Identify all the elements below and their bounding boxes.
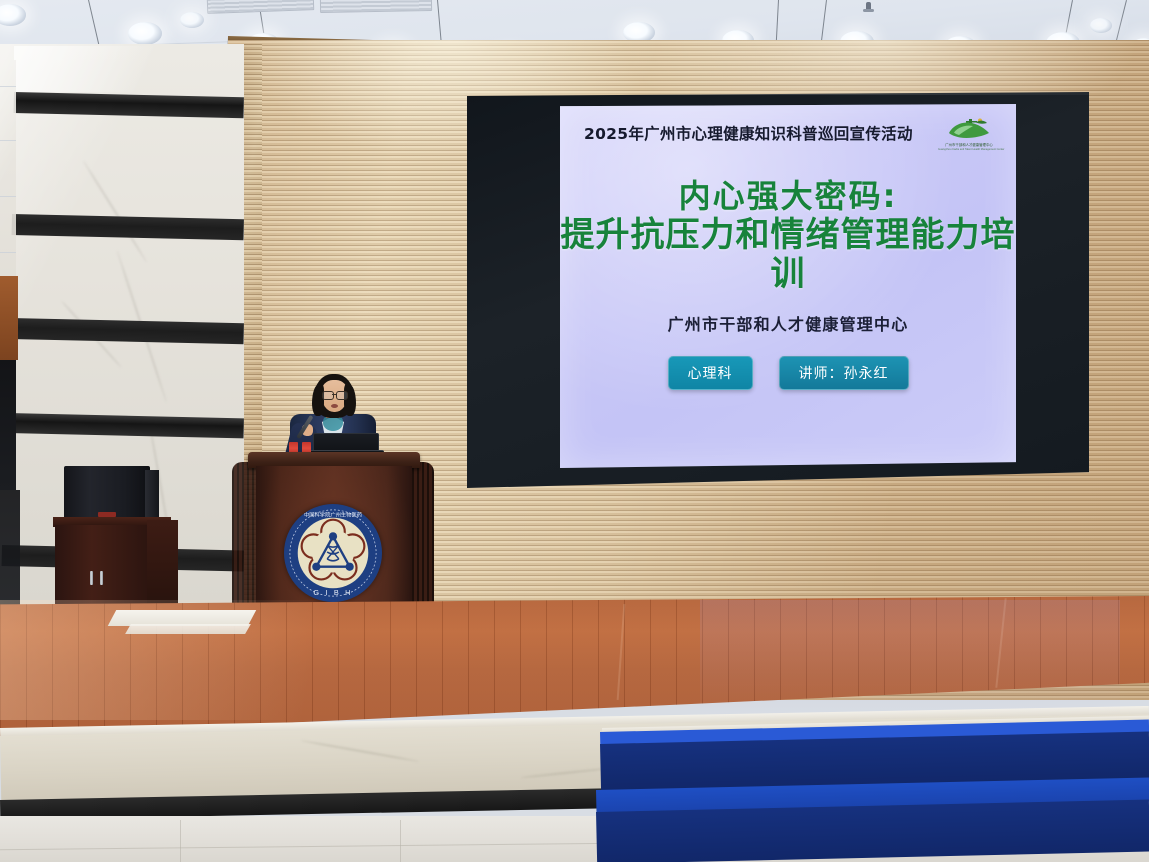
presenter-glasses-right [336, 391, 348, 400]
presenter-glasses-left [322, 391, 334, 400]
ceiling-downlight [1090, 18, 1112, 33]
wood-door-edge [0, 276, 18, 360]
presenter-hair-side [312, 384, 324, 416]
department-pill: 心理科 [668, 356, 753, 390]
presentation-slide: 2025年广州市心理健康知识科普巡回宣传活动 广州市干部和人才健康管理中心 Gu… [560, 104, 1016, 468]
far-left-wall-seam [0, 86, 16, 87]
logo-caption-en: Guangzhou Cadre and Talent Health Manage… [938, 148, 1000, 151]
slide-header-text: 2025年广州市心理健康知识科普巡回宣传活动 [584, 122, 913, 144]
loudspeaker-side [145, 470, 159, 518]
blue-carpeted-stairs [596, 716, 1149, 862]
svg-text:中国科学院广州生物医药: 中国科学院广州生物医药 [304, 511, 362, 519]
side-doorway [0, 360, 16, 490]
logo-mark-icon [946, 116, 992, 142]
floor-loudspeaker [64, 466, 150, 520]
ceiling-downlight [128, 22, 162, 45]
lower-floor-tile-seam [180, 820, 181, 862]
presenter-mouth [331, 404, 338, 408]
logo-caption-cn: 广州市干部和人才健康管理中心 [938, 143, 1000, 147]
emblem-artwork-icon: G I B H 中国科学院广州生物医药 [284, 504, 382, 602]
sprinkler-head [866, 2, 871, 11]
slide-title-line2: 提升抗压力和情绪管理能力培训 [560, 216, 1016, 294]
presenter-hair-side [344, 384, 356, 416]
cabinet-handle [100, 571, 103, 585]
stage-step [125, 624, 251, 634]
far-left-wall-seam [0, 196, 16, 197]
gibh-institute-emblem: G I B H 中国科学院广州生物医药 [284, 504, 382, 602]
presenter-glasses-bridge [332, 394, 336, 395]
slide-title-line1: 内心强大密码: [560, 178, 1016, 214]
ceiling-vent [320, 0, 432, 13]
cabinet-handle [90, 571, 93, 585]
far-left-wall-seam [0, 140, 16, 141]
svg-text:G I B H: G I B H [313, 588, 352, 597]
slide-organization: 广州市干部和人才健康管理中心 [560, 311, 1016, 335]
presenter-pill: 讲师：孙永红 [779, 356, 909, 390]
presentation-room-photo: 2025年广州市心理健康知识科普巡回宣传活动 广州市干部和人才健康管理中心 Gu… [0, 0, 1149, 862]
side-doorway [0, 490, 20, 618]
ceiling-downlight [180, 12, 204, 28]
health-center-logo: 广州市干部和人才健康管理中心 Guangzhou Cadre and Talen… [938, 116, 1000, 160]
slide-title: 内心强大密码: 提升抗压力和情绪管理能力培训 [560, 178, 1016, 294]
far-left-wall-seam [0, 252, 16, 253]
slide-badges: 心理科 讲师：孙永红 [560, 356, 1016, 390]
lower-floor-tile-seam [400, 820, 401, 862]
